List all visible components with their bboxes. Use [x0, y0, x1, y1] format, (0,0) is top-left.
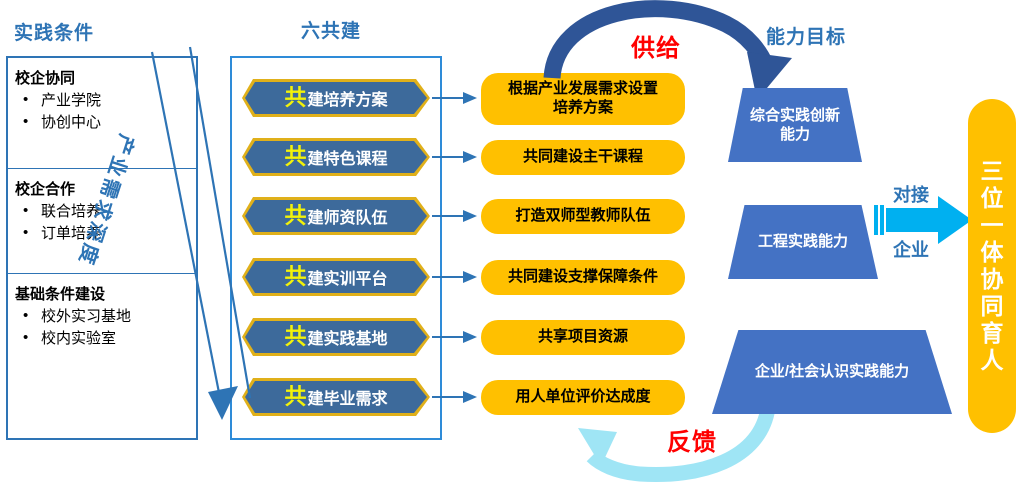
pill-char: 协: [981, 266, 1004, 293]
pill-char: 一: [981, 212, 1004, 239]
three-in-one-pill: 三 位 一 体 协 同 育 人: [968, 99, 1016, 433]
pill-char: 体: [981, 239, 1004, 266]
docking-label: 对接: [893, 181, 929, 207]
docking-arrow: [0, 0, 1024, 485]
pill-char: 人: [981, 347, 1004, 374]
pill-char: 位: [981, 185, 1004, 212]
pill-char: 育: [981, 320, 1004, 347]
enterprise-label: 企业: [893, 236, 929, 262]
pill-char: 三: [981, 158, 1004, 185]
pill-char: 同: [981, 293, 1004, 320]
diagram-canvas: 实践条件 六共建 能力目标 校企协同 产业学院 协创中心 校企合作 联合培养 订…: [0, 0, 1024, 485]
